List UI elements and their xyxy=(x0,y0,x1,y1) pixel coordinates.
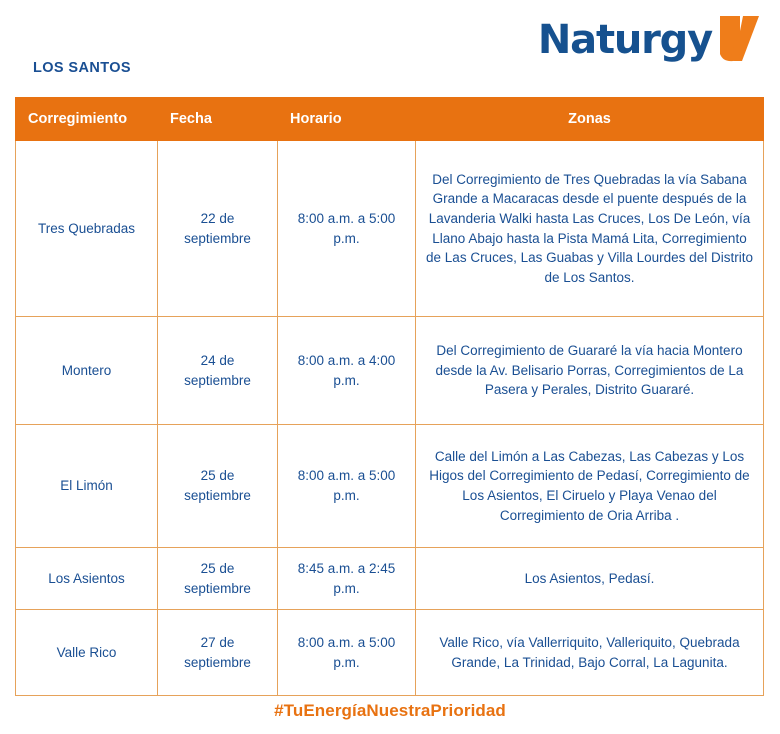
naturgy-flame-icon xyxy=(716,14,762,71)
cell-zonas: Valle Rico, vía Vallerriquito, Valleriqu… xyxy=(416,610,764,696)
footer-hashtag: #TuEnergíaNuestraPrioridad xyxy=(0,701,780,721)
column-header-zonas: Zonas xyxy=(416,98,764,141)
table-row: Valle Rico 27 de septiembre 8:00 a.m. a … xyxy=(16,610,764,696)
cell-zonas: Los Asientos, Pedasí. xyxy=(416,548,764,610)
table-row: Los Asientos 25 de septiembre 8:45 a.m. … xyxy=(16,548,764,610)
cell-horario: 8:45 a.m. a 2:45 p.m. xyxy=(278,548,416,610)
outage-schedule-table: Corregimiento Fecha Horario Zonas Tres Q… xyxy=(15,97,764,696)
cell-corregimiento: Valle Rico xyxy=(16,610,158,696)
cell-fecha: 24 de septiembre xyxy=(158,317,278,425)
cell-fecha: 27 de septiembre xyxy=(158,610,278,696)
table-row: Montero 24 de septiembre 8:00 a.m. a 4:0… xyxy=(16,317,764,425)
cell-fecha: 25 de septiembre xyxy=(158,548,278,610)
table-header-row: Corregimiento Fecha Horario Zonas xyxy=(16,98,764,141)
cell-horario: 8:00 a.m. a 5:00 p.m. xyxy=(278,610,416,696)
cell-horario: 8:00 a.m. a 5:00 p.m. xyxy=(278,425,416,548)
page-header: Naturgy LOS SANTOS xyxy=(0,0,780,97)
cell-corregimiento: El Limón xyxy=(16,425,158,548)
naturgy-logo: Naturgy xyxy=(538,18,762,70)
cell-corregimiento: Los Asientos xyxy=(16,548,158,610)
cell-zonas: Del Corregimiento de Guararé la vía haci… xyxy=(416,317,764,425)
table-row: Tres Quebradas 22 de septiembre 8:00 a.m… xyxy=(16,141,764,317)
table-row: El Limón 25 de septiembre 8:00 a.m. a 5:… xyxy=(16,425,764,548)
cell-fecha: 22 de septiembre xyxy=(158,141,278,317)
naturgy-wordmark: Naturgy xyxy=(538,18,712,62)
column-header-corregimiento: Corregimiento xyxy=(16,98,158,141)
page-title: LOS SANTOS xyxy=(33,60,131,76)
cell-zonas: Calle del Limón a Las Cabezas, Las Cabez… xyxy=(416,425,764,548)
cell-corregimiento: Tres Quebradas xyxy=(16,141,158,317)
column-header-fecha: Fecha xyxy=(158,98,278,141)
cell-horario: 8:00 a.m. a 5:00 p.m. xyxy=(278,141,416,317)
cell-fecha: 25 de septiembre xyxy=(158,425,278,548)
cell-zonas: Del Corregimiento de Tres Quebradas la v… xyxy=(416,141,764,317)
cell-horario: 8:00 a.m. a 4:00 p.m. xyxy=(278,317,416,425)
cell-corregimiento: Montero xyxy=(16,317,158,425)
column-header-horario: Horario xyxy=(278,98,416,141)
